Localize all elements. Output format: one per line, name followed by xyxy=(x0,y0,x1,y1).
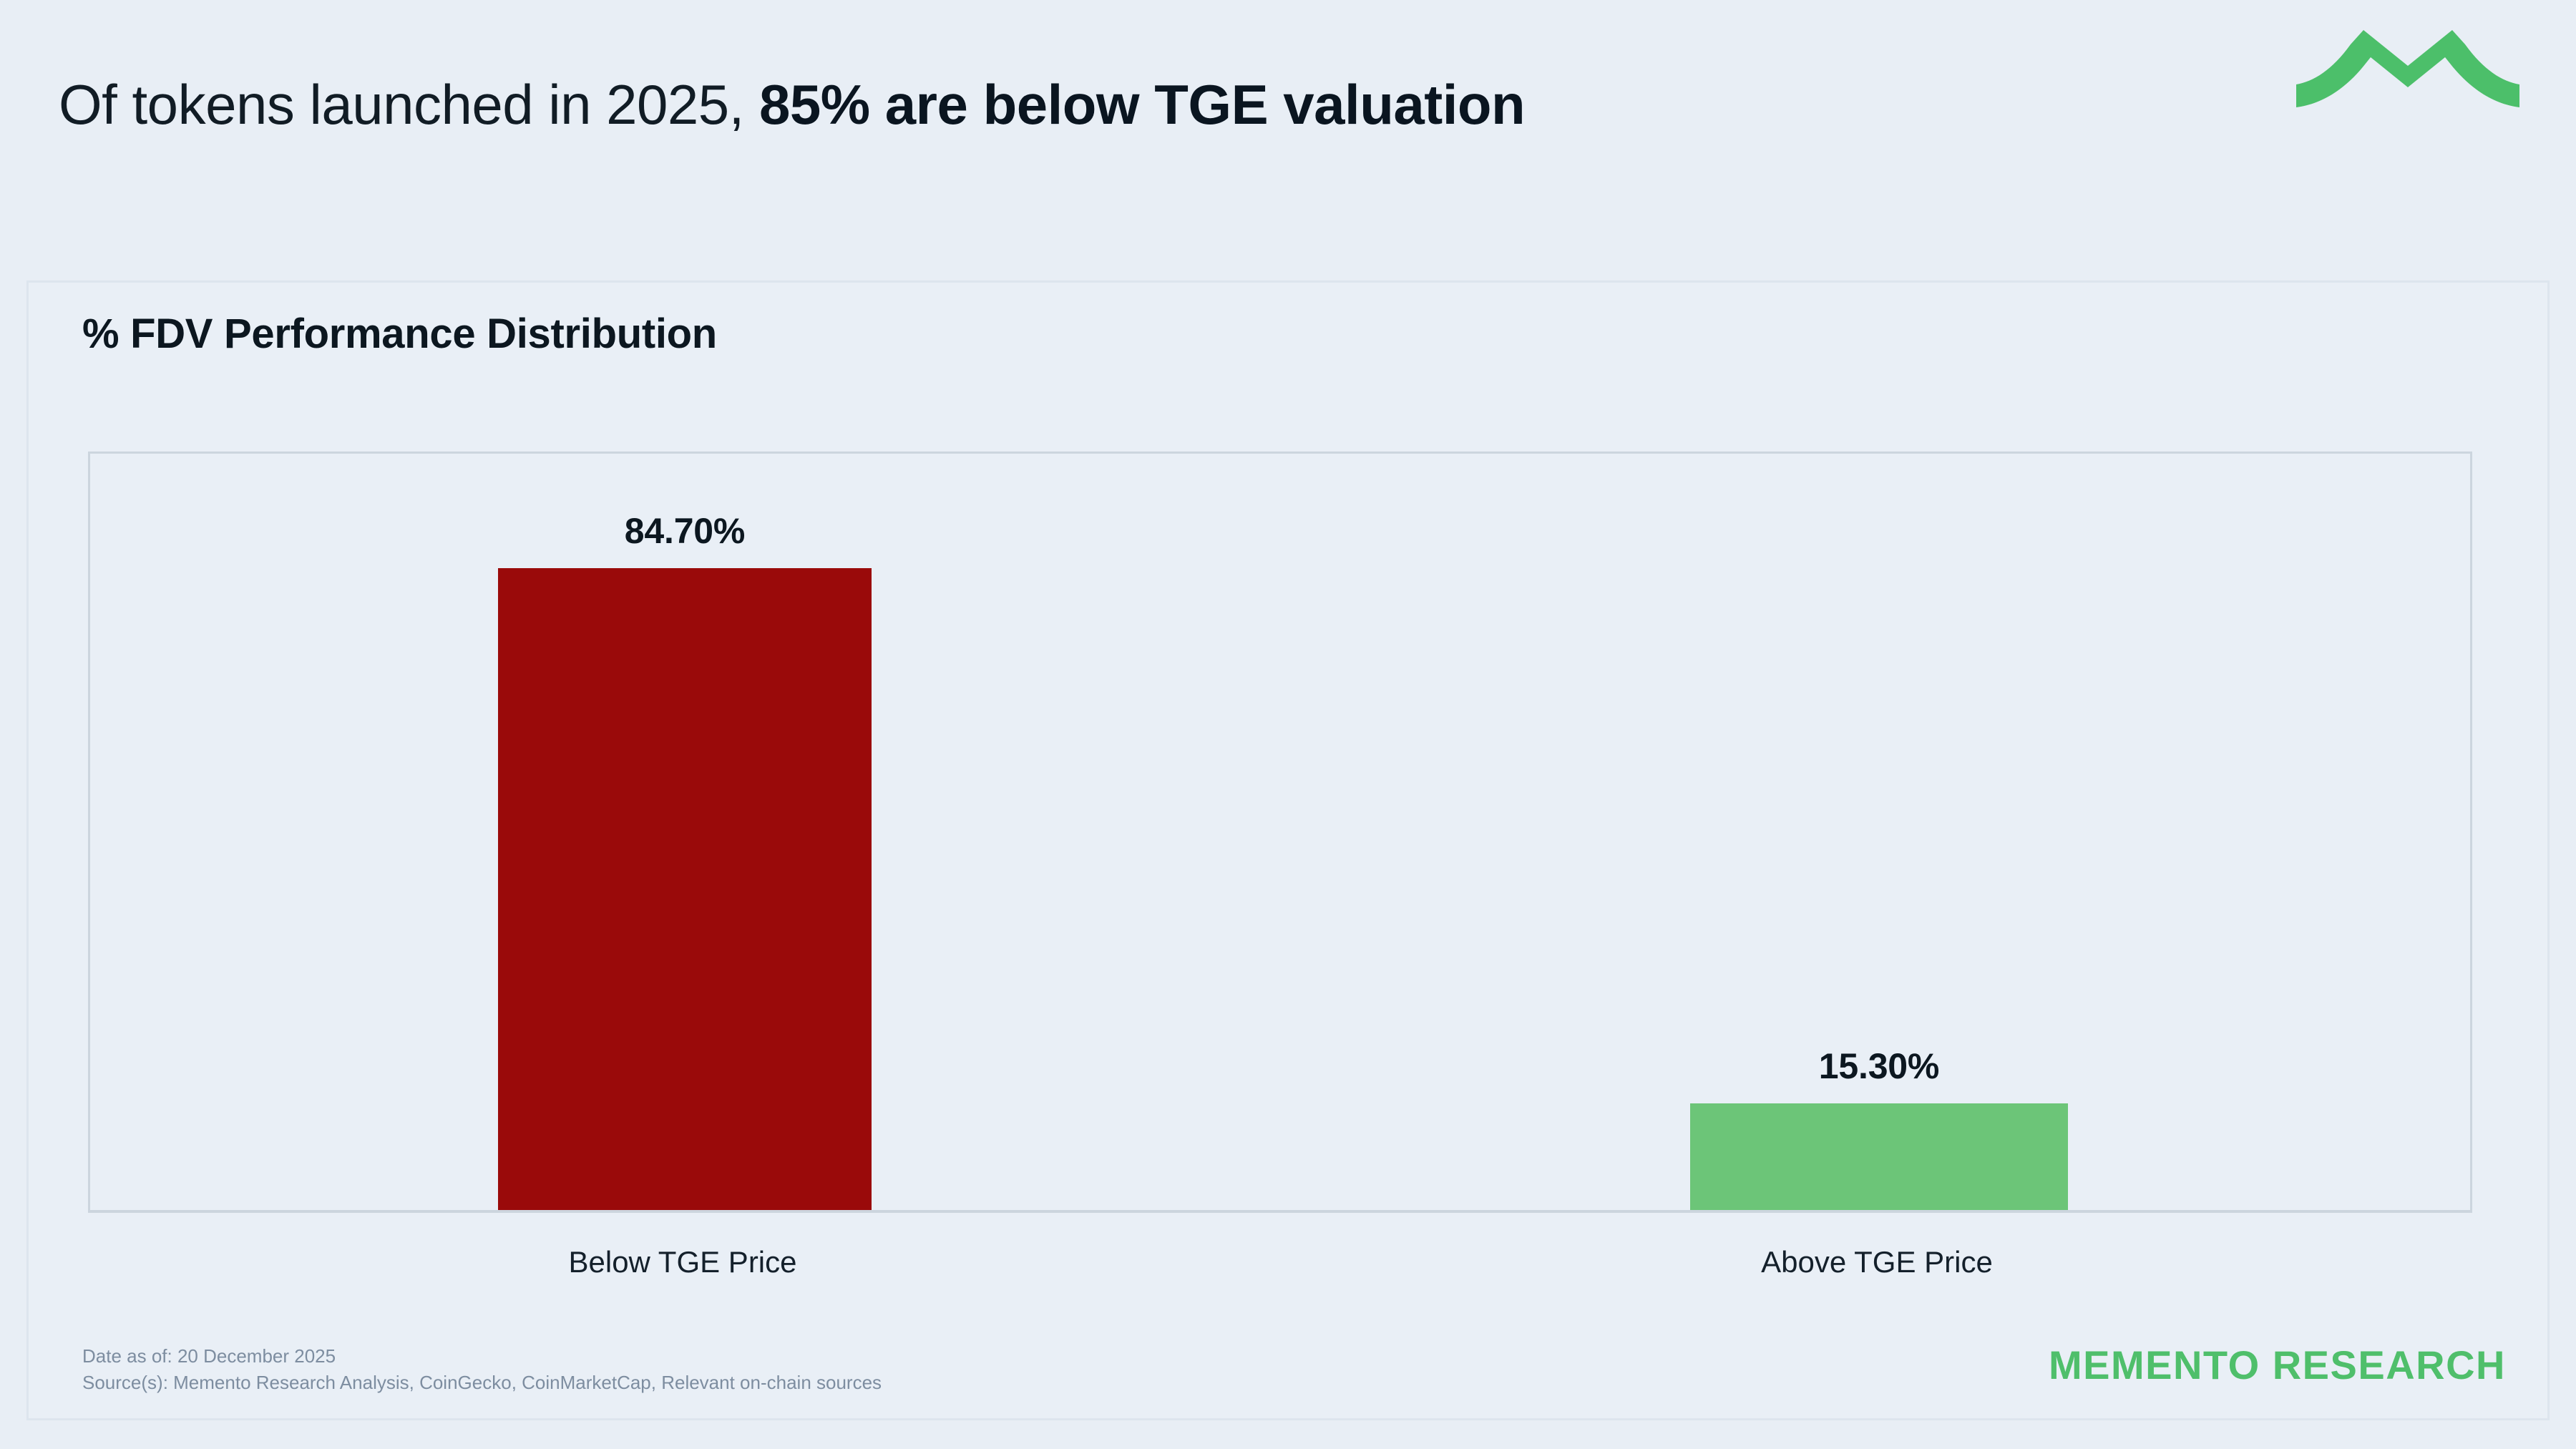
page-title: Of tokens launched in 2025, 85% are belo… xyxy=(59,74,1525,136)
bar-above-tge[interactable] xyxy=(1690,1103,2068,1212)
x-axis-line xyxy=(88,1210,2472,1213)
bar-value-above-tge: 15.30% xyxy=(1690,1045,2068,1087)
x-tick-label-below-tge: Below TGE Price xyxy=(496,1245,869,1279)
headline-bold-part: 85% are below TGE valuation xyxy=(759,73,1525,136)
footnote-source: Source(s): Memento Research Analysis, Co… xyxy=(82,1370,882,1397)
memento-zigzag-logo-icon xyxy=(2293,30,2522,119)
bar-group-above-tge: 15.30% xyxy=(1690,454,2068,1212)
page-header: Of tokens launched in 2025, 85% are belo… xyxy=(0,0,2576,280)
bar-below-tge[interactable] xyxy=(498,568,872,1212)
chart-title: % FDV Performance Distribution xyxy=(82,310,717,358)
chart-panel: % FDV Performance Distribution 84.70% 15… xyxy=(26,280,2550,1420)
memento-research-wordmark: MEMENTO RESEARCH xyxy=(2049,1342,2506,1388)
bar-group-below-tge: 84.70% xyxy=(498,454,872,1212)
footnote: Date as of: 20 December 2025 Source(s): … xyxy=(82,1343,882,1397)
plot-inner: 84.70% 15.30% xyxy=(90,454,2470,1212)
bar-value-below-tge: 84.70% xyxy=(498,510,872,552)
x-tick-label-above-tge: Above TGE Price xyxy=(1688,1245,2066,1279)
headline-regular-part: Of tokens launched in 2025, xyxy=(59,73,759,136)
footnote-date: Date as of: 20 December 2025 xyxy=(82,1343,882,1370)
plot-area: 84.70% 15.30% xyxy=(88,452,2472,1212)
